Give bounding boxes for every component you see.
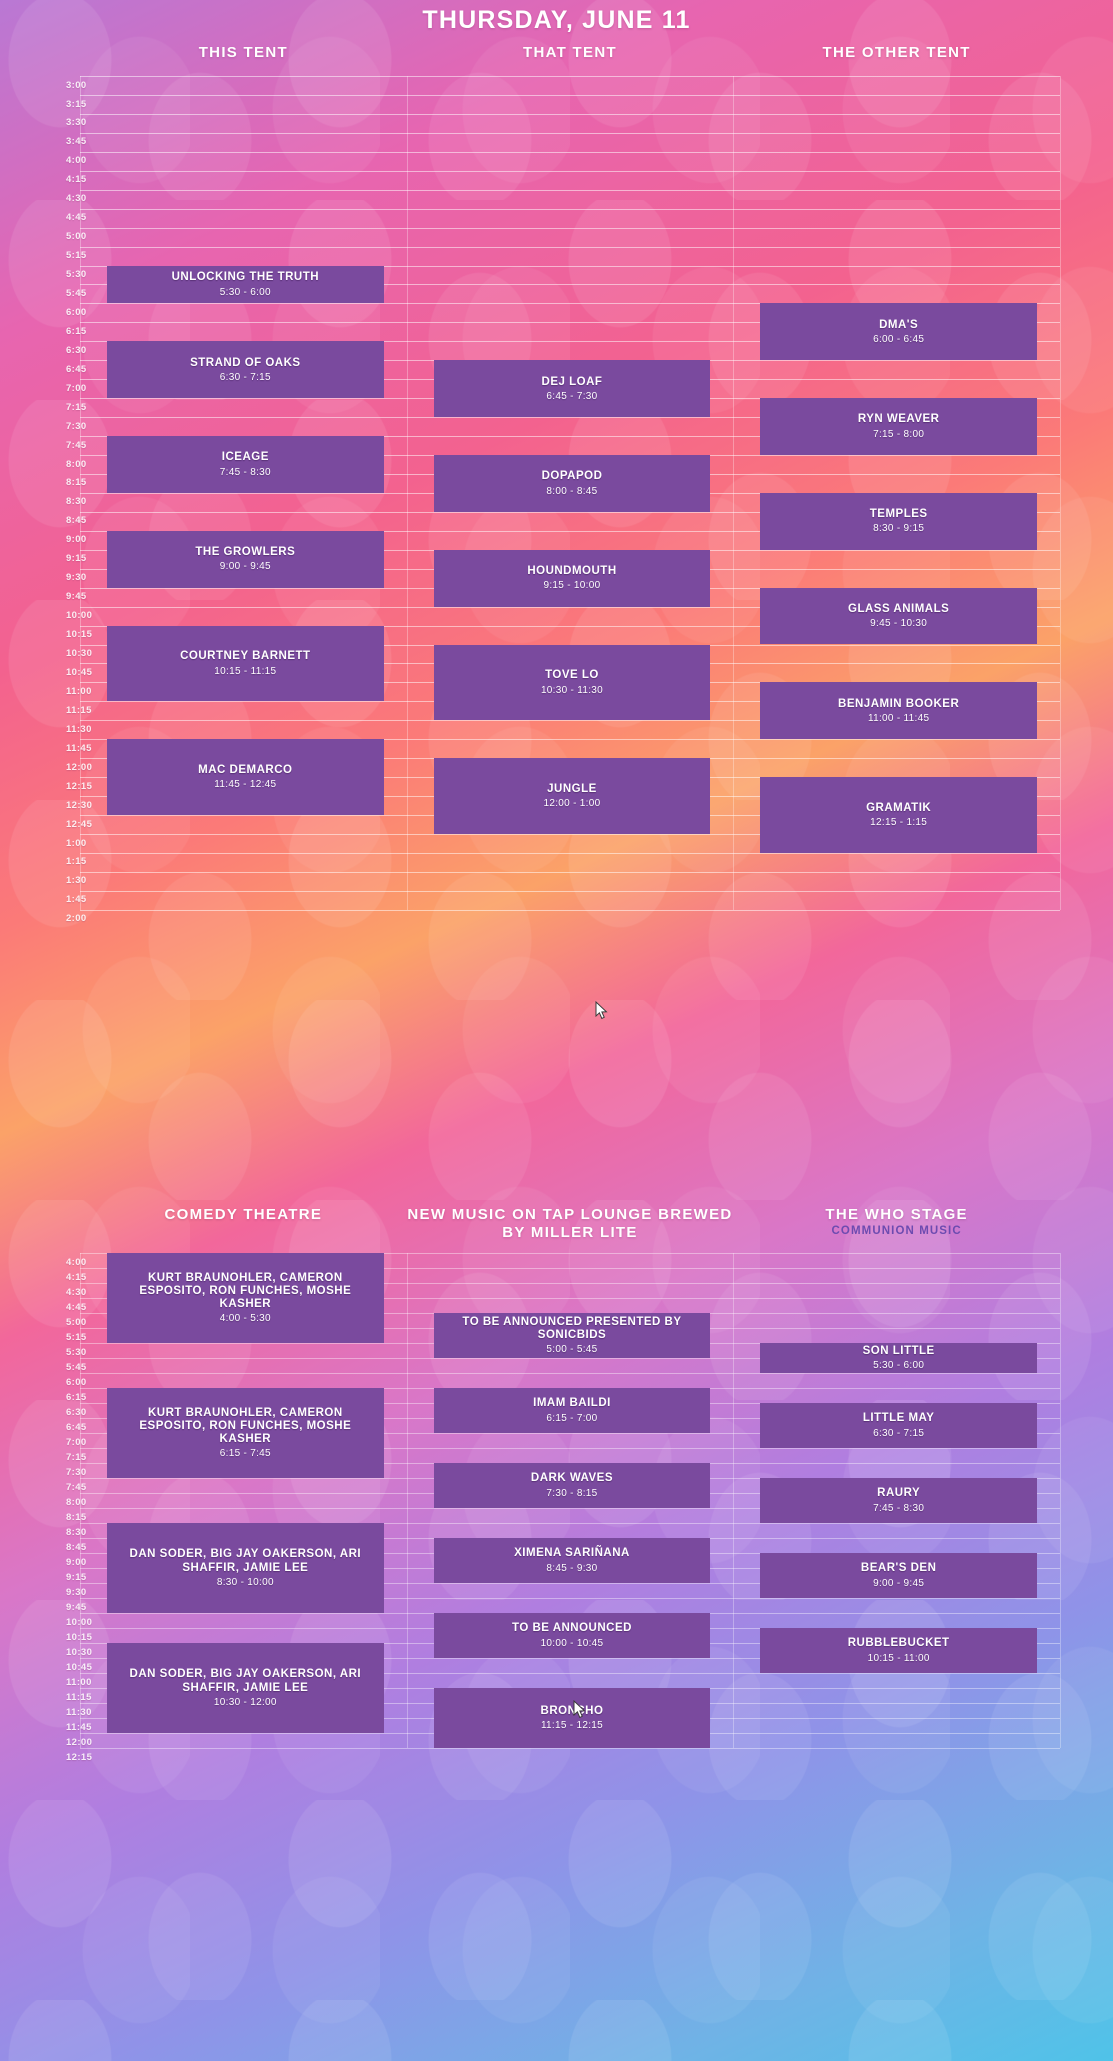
event-block[interactable]: RUBBLEBUCKET10:15 - 11:00 — [760, 1628, 1037, 1673]
event-time: 10:15 - 11:00 — [868, 1653, 930, 1664]
event-name: LITTLE MAY — [863, 1412, 935, 1425]
event-block[interactable]: DARK WAVES7:30 - 8:15 — [434, 1463, 711, 1508]
event-time: 5:30 - 6:00 — [873, 1360, 924, 1371]
event-time: 11:15 - 12:15 — [541, 1720, 603, 1731]
event-block[interactable]: BRONCHO11:15 - 12:15 — [434, 1688, 711, 1748]
event-block[interactable]: KURT BRAUNOHLER, CAMERON ESPOSITO, RON F… — [107, 1388, 384, 1478]
event-block[interactable]: XIMENA SARIÑANA8:45 - 9:30 — [434, 1538, 711, 1583]
event-time: 9:00 - 9:45 — [873, 1578, 924, 1589]
event-name: KURT BRAUNOHLER, CAMERON ESPOSITO, RON F… — [113, 1272, 378, 1312]
event-name: BRONCHO — [541, 1705, 604, 1718]
event-block[interactable]: TO BE ANNOUNCED PRESENTED BY SONICBIDS5:… — [434, 1313, 711, 1358]
event-time: 6:15 - 7:45 — [220, 1448, 271, 1459]
event-time: 4:00 - 5:30 — [220, 1313, 271, 1324]
event-block[interactable]: LITTLE MAY6:30 - 7:15 — [760, 1403, 1037, 1448]
event-name: SON LITTLE — [863, 1345, 935, 1358]
event-name: DAN SODER, BIG JAY OAKERSON, ARI SHAFFIR… — [113, 1548, 378, 1575]
event-name: KURT BRAUNOHLER, CAMERON ESPOSITO, RON F… — [113, 1407, 378, 1447]
event-name: RUBBLEBUCKET — [848, 1637, 950, 1650]
section2-events: KURT BRAUNOHLER, CAMERON ESPOSITO, RON F… — [0, 0, 1113, 2061]
event-name: TO BE ANNOUNCED PRESENTED BY SONICBIDS — [440, 1316, 705, 1343]
event-block[interactable]: KURT BRAUNOHLER, CAMERON ESPOSITO, RON F… — [107, 1253, 384, 1343]
schedule-page: THURSDAY, JUNE 11 THIS TENTTHAT TENTTHE … — [0, 0, 1113, 2061]
event-block[interactable]: BEAR'S DEN9:00 - 9:45 — [760, 1553, 1037, 1598]
event-block[interactable]: IMAM BAILDI6:15 - 7:00 — [434, 1388, 711, 1433]
event-time: 7:30 - 8:15 — [546, 1488, 597, 1499]
event-name: RAURY — [877, 1487, 920, 1500]
event-time: 5:00 - 5:45 — [546, 1344, 597, 1355]
event-time: 10:30 - 12:00 — [214, 1697, 277, 1708]
event-name: XIMENA SARIÑANA — [514, 1547, 630, 1560]
event-name: TO BE ANNOUNCED — [512, 1622, 632, 1635]
event-block[interactable]: DAN SODER, BIG JAY OAKERSON, ARI SHAFFIR… — [107, 1643, 384, 1733]
event-time: 10:00 - 10:45 — [541, 1638, 604, 1649]
event-block[interactable]: SON LITTLE5:30 - 6:00 — [760, 1343, 1037, 1373]
event-time: 7:45 - 8:30 — [873, 1503, 924, 1514]
event-time: 8:30 - 10:00 — [217, 1577, 274, 1588]
event-time: 6:30 - 7:15 — [873, 1428, 924, 1439]
event-name: DAN SODER, BIG JAY OAKERSON, ARI SHAFFIR… — [113, 1668, 378, 1695]
event-time: 8:45 - 9:30 — [546, 1563, 597, 1574]
event-block[interactable]: TO BE ANNOUNCED10:00 - 10:45 — [434, 1613, 711, 1658]
event-block[interactable]: RAURY7:45 - 8:30 — [760, 1478, 1037, 1523]
event-name: BEAR'S DEN — [861, 1562, 936, 1575]
event-time: 6:15 - 7:00 — [546, 1413, 597, 1424]
event-name: DARK WAVES — [531, 1472, 613, 1485]
event-block[interactable]: DAN SODER, BIG JAY OAKERSON, ARI SHAFFIR… — [107, 1523, 384, 1613]
event-name: IMAM BAILDI — [533, 1397, 611, 1410]
